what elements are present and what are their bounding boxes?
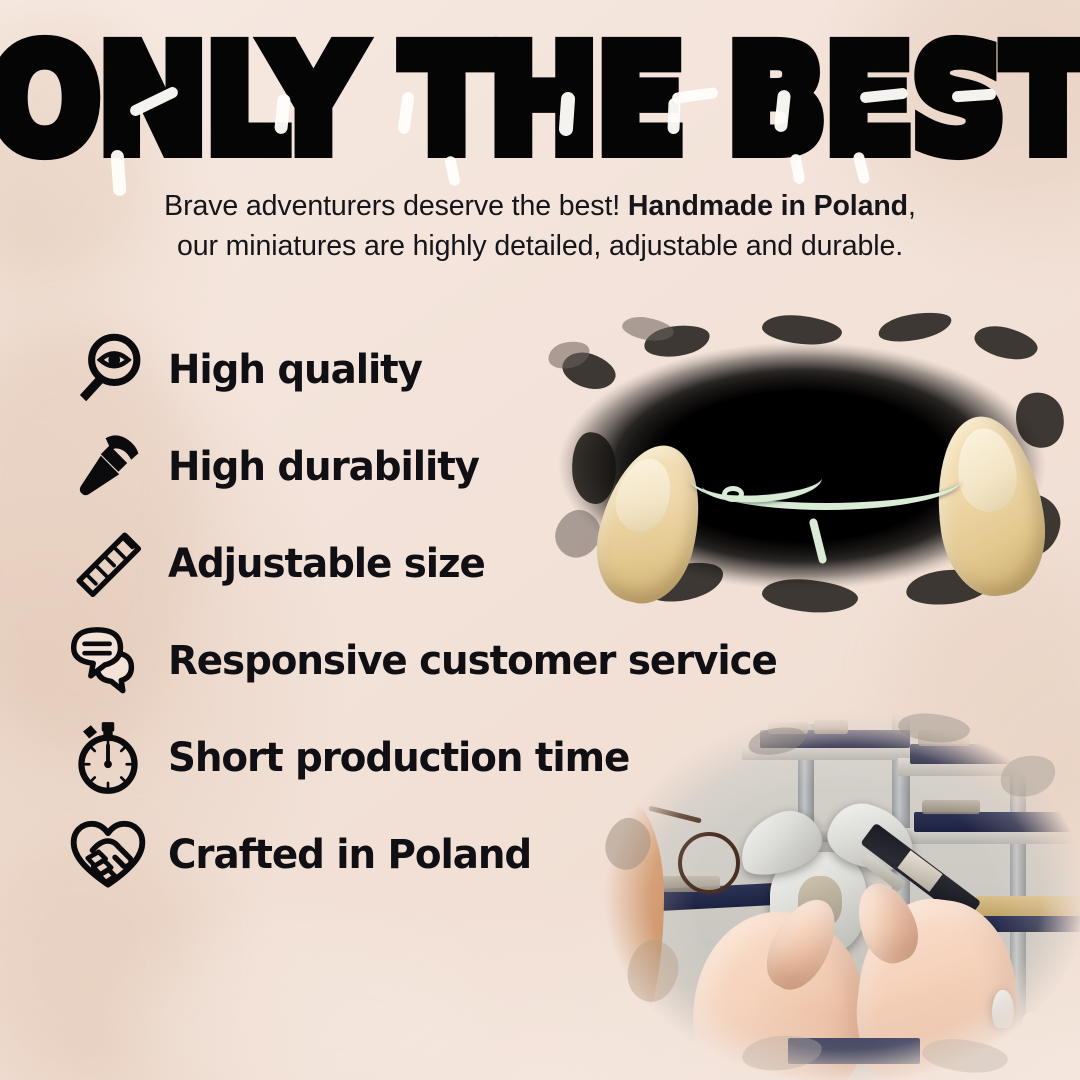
feature-label: Short production time — [168, 735, 629, 781]
workshop-sculpting-photo — [592, 700, 1080, 1080]
feature-label: High durability — [168, 444, 479, 490]
eyeglasses — [678, 832, 740, 894]
subtitle: Brave adventurers deserve the best! Hand… — [0, 186, 1080, 267]
subtitle-line-2: our miniatures are highly detailed, adju… — [177, 230, 903, 262]
strand-loop — [722, 486, 744, 502]
speech-bubbles-icon — [62, 618, 154, 704]
miniature-bits — [814, 720, 848, 734]
heart-handshake-icon — [62, 812, 154, 898]
feature-label: Responsive customer service — [168, 638, 777, 684]
feature-label: Adjustable size — [168, 541, 485, 587]
feature-item-responsive-customer-service: Responsive customer service — [62, 612, 782, 709]
miniature-tray — [914, 812, 1078, 832]
magnifier-eye-icon — [62, 327, 154, 413]
miniature-bits — [922, 800, 980, 814]
hammer-icon — [62, 424, 154, 510]
ruler-icon — [62, 521, 154, 607]
flexible-miniature-photo — [526, 312, 1078, 620]
page-title: ONLY THE BEST — [0, 29, 1080, 175]
stray-miniature — [992, 990, 1014, 1028]
feature-label: Crafted in Poland — [168, 832, 531, 878]
subtitle-lead: Brave adventurers deserve the best! — [164, 190, 620, 222]
stopwatch-icon — [62, 715, 154, 801]
stray-miniature — [1022, 1012, 1040, 1038]
background-wash — [120, 930, 480, 1080]
subtitle-bold-phrase: Handmade in Poland — [628, 190, 908, 222]
workshop-scene — [592, 700, 1080, 1080]
feature-label: High quality — [168, 347, 422, 393]
subtitle-comma: , — [908, 190, 916, 222]
miniature-bits — [978, 732, 1040, 746]
poster-canvas: ONLY THE BEST Brave adventurers deserve … — [0, 0, 1080, 1080]
headline-container: ONLY THE BEST — [0, 34, 1080, 162]
wooden-plank — [976, 896, 1080, 918]
